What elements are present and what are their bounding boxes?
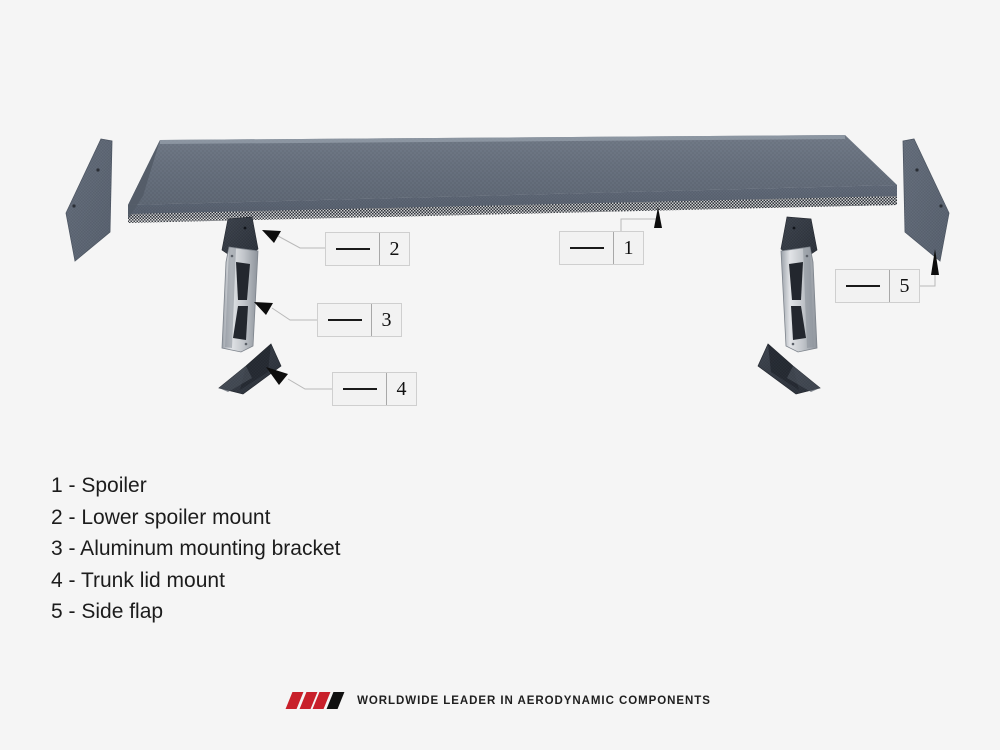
callout-dash-cell: [560, 232, 614, 264]
callout-number: 5: [890, 270, 919, 302]
aluminum-bracket-left: [222, 247, 258, 352]
dash-icon: [570, 247, 604, 249]
dash-icon: [336, 248, 370, 250]
dash-icon: [343, 388, 377, 390]
callout-dash-cell: [318, 304, 372, 336]
side-flap-right: [903, 139, 949, 261]
legend-item-1: 1 - Spoiler: [51, 470, 551, 502]
brand-stripes-logo: [289, 692, 343, 709]
side-flap-left: [66, 139, 112, 261]
spoiler-wing: [128, 135, 897, 223]
lower-spoiler-mount-right: [781, 217, 817, 262]
aluminum-bracket-right: [781, 247, 817, 352]
callout-box-5[interactable]: 5: [835, 269, 920, 303]
dash-icon: [328, 319, 362, 321]
callout-dash-cell: [333, 373, 387, 405]
leader-line-1: [621, 207, 662, 231]
leader-line-3: [254, 302, 317, 320]
leader-line-2: [262, 230, 325, 248]
lower-spoiler-mount-left: [222, 217, 258, 262]
footer-tagline: WORLDWIDE LEADER IN AERODYNAMIC COMPONEN…: [357, 695, 711, 707]
callout-box-4[interactable]: 4: [332, 372, 417, 406]
product-illustration: [0, 0, 1000, 750]
callout-box-3[interactable]: 3: [317, 303, 402, 337]
diagram-stage: 1 2 3 4 5 1 - Spoiler 2 - Lower spoiler …: [0, 0, 1000, 750]
callout-box-2[interactable]: 2: [325, 232, 410, 266]
leader-line-4: [266, 367, 332, 389]
trunk-lid-mount-right: [758, 344, 820, 394]
callout-number: 2: [380, 233, 409, 265]
legend-item-3: 3 - Aluminum mounting bracket: [51, 533, 551, 565]
trunk-lid-mount-left: [219, 344, 281, 394]
callout-number: 1: [614, 232, 643, 264]
callout-box-1[interactable]: 1: [559, 231, 644, 265]
parts-legend: 1 - Spoiler 2 - Lower spoiler mount 3 - …: [51, 470, 551, 628]
legend-item-4: 4 - Trunk lid mount: [51, 565, 551, 597]
callout-number: 4: [387, 373, 416, 405]
footer: WORLDWIDE LEADER IN AERODYNAMIC COMPONEN…: [0, 692, 1000, 709]
legend-item-5: 5 - Side flap: [51, 596, 551, 628]
callout-number: 3: [372, 304, 401, 336]
legend-item-2: 2 - Lower spoiler mount: [51, 502, 551, 534]
callout-dash-cell: [836, 270, 890, 302]
callout-dash-cell: [326, 233, 380, 265]
leader-line-5: [917, 249, 939, 286]
dash-icon: [846, 285, 880, 287]
